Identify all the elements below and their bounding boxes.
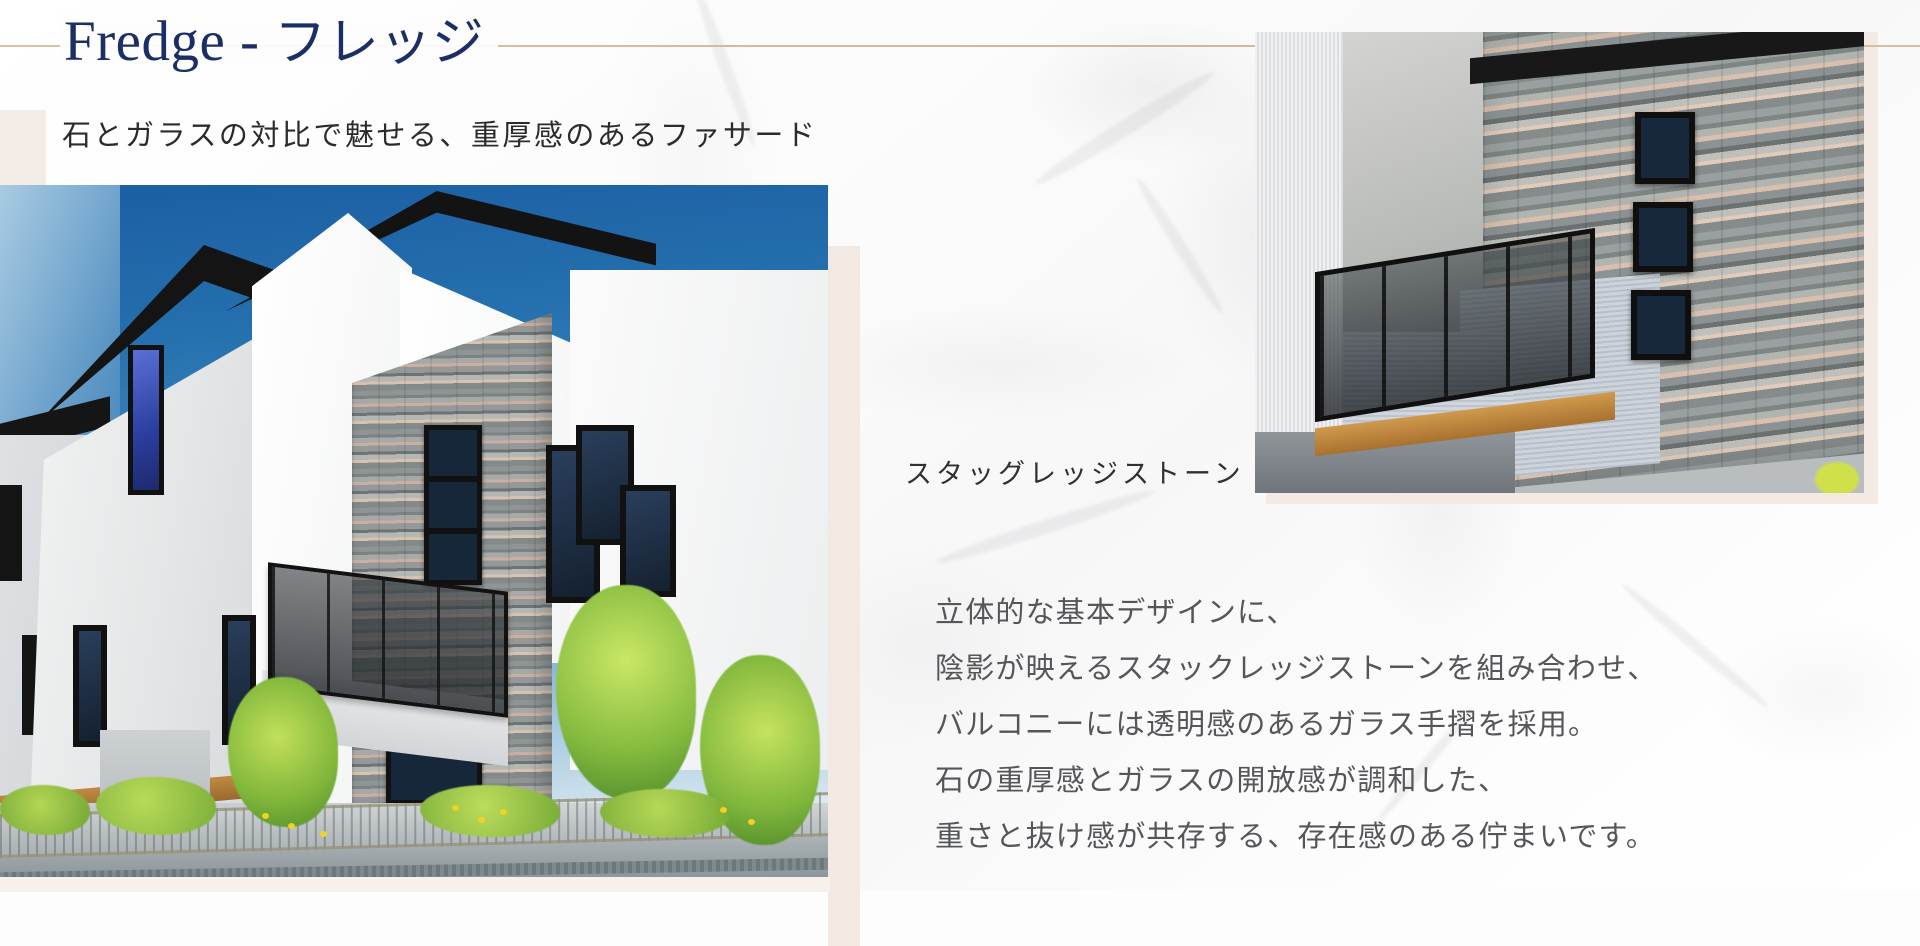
page-title: Fredge - フレッジ <box>60 9 498 76</box>
body-copy: 立体的な基本デザインに、 陰影が映えるスタックレッジストーンを組み合わせ、 バル… <box>935 585 1657 865</box>
body-line: 石の重厚感とガラスの開放感が調和した、 <box>935 753 1657 809</box>
flower <box>500 809 507 815</box>
detail-square-window <box>1631 290 1691 360</box>
page-subtitle: 石とガラスの対比で魅せる、重厚感のあるファサード <box>62 112 817 154</box>
tall-window <box>73 625 107 747</box>
page-title-separator: - <box>225 10 274 73</box>
square-window <box>424 425 482 481</box>
detail-foliage <box>1815 462 1859 493</box>
beige-accent-main-photo <box>828 246 860 946</box>
detail-square-window <box>1633 202 1693 272</box>
beige-accent-left <box>0 110 46 188</box>
accent-blue-window <box>128 345 164 495</box>
stone-caption-label: スタッグレッジストーン <box>905 452 1245 491</box>
flower <box>452 805 459 811</box>
square-window <box>424 529 482 585</box>
stone-detail-photo <box>1255 32 1864 493</box>
bush <box>0 785 90 835</box>
flower <box>288 823 295 829</box>
tree-shrub <box>228 677 338 827</box>
page-title-jp: フレッジ <box>274 13 484 73</box>
flower <box>262 813 269 819</box>
body-line: バルコニーには透明感のあるガラス手摺を採用。 <box>935 697 1657 753</box>
tree-shrub <box>556 585 696 800</box>
main-exterior-photo <box>0 185 828 877</box>
tall-window <box>620 485 676 597</box>
flower <box>478 817 485 823</box>
flower <box>320 831 327 837</box>
detail-square-window <box>1635 112 1695 184</box>
page-title-en: Fredge <box>64 10 225 73</box>
neighbour-window <box>0 485 22 581</box>
body-line: 重さと抜け感が共存する、存在感のある佇まいです。 <box>935 809 1657 865</box>
square-window <box>424 477 482 533</box>
flower <box>720 807 727 813</box>
detail-ribbed-wall <box>1255 32 1345 493</box>
flower <box>748 819 755 825</box>
body-line: 陰影が映えるスタックレッジストーンを組み合わせ、 <box>935 641 1657 697</box>
body-line: 立体的な基本デザインに、 <box>935 585 1657 641</box>
